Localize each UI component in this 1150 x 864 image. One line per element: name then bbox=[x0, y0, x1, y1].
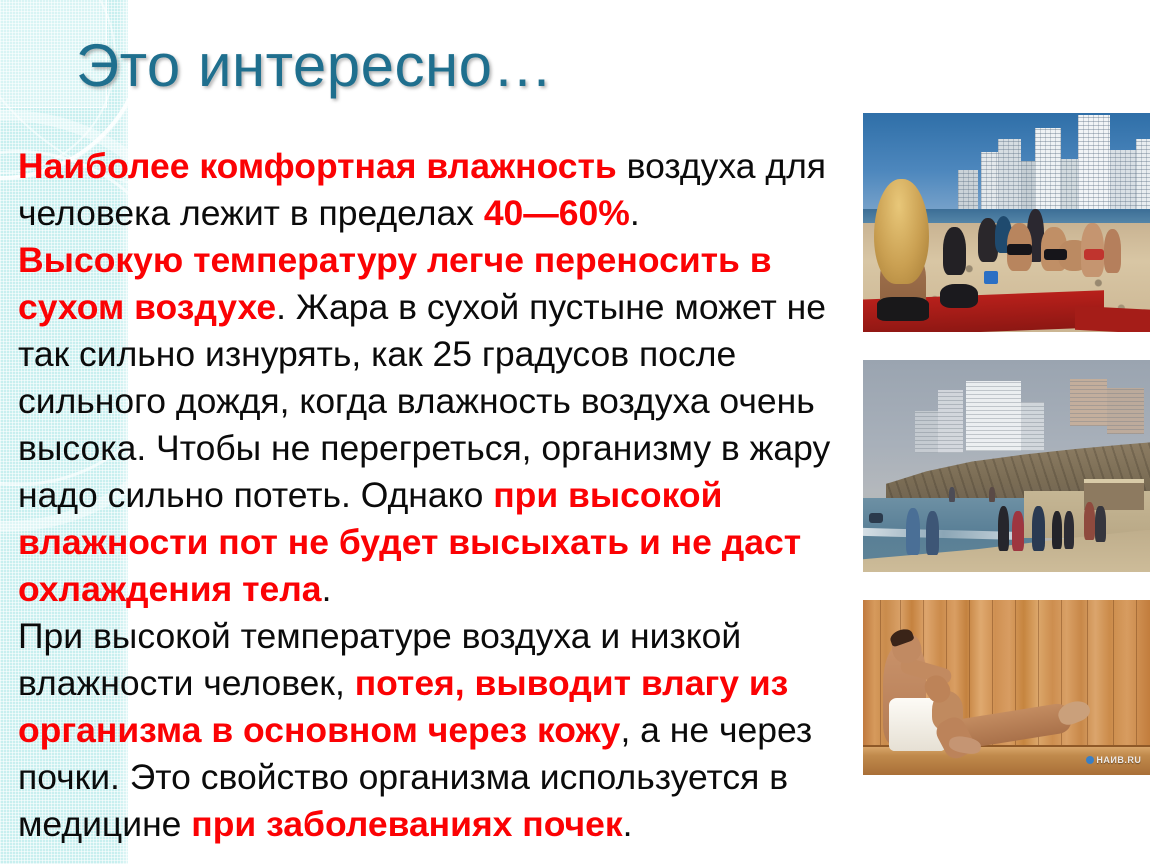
building-shape bbox=[915, 411, 938, 453]
building-shape bbox=[938, 390, 964, 454]
person-shape bbox=[926, 511, 939, 556]
person-shape bbox=[949, 487, 955, 502]
person-shape bbox=[906, 508, 920, 555]
building-shape bbox=[981, 152, 998, 218]
person-shape bbox=[1052, 511, 1062, 549]
bag-shape bbox=[940, 284, 977, 308]
person-shape bbox=[998, 506, 1009, 551]
blonde-hair-shape bbox=[874, 179, 929, 284]
photo-sauna-content: НАИВ.RU bbox=[863, 600, 1150, 775]
photo-sauna: НАИВ.RU bbox=[863, 600, 1150, 775]
building-shape bbox=[998, 139, 1021, 218]
red-towel-shape bbox=[1075, 306, 1150, 332]
photo-beach-haze-content bbox=[863, 360, 1150, 572]
photo-beach-crowd-content bbox=[863, 113, 1150, 332]
slide-body-text: Наиболее комфортная влажность воздуха дл… bbox=[18, 143, 864, 848]
person-shape bbox=[1104, 229, 1121, 273]
swimsuit-shape bbox=[1084, 249, 1104, 260]
text-run: . bbox=[623, 804, 633, 844]
building-shape bbox=[1136, 139, 1150, 218]
person-shape bbox=[989, 487, 995, 502]
text-run: . bbox=[630, 193, 640, 233]
text-run: . bbox=[322, 569, 332, 609]
text-run: 40—60% bbox=[484, 193, 630, 233]
person-shape bbox=[1084, 502, 1095, 540]
person-shape bbox=[1064, 511, 1074, 549]
building-shape bbox=[966, 381, 1021, 451]
building-shape bbox=[1070, 379, 1107, 426]
text-run: Наиболее комфортная влажность bbox=[18, 146, 617, 186]
person-shape bbox=[1012, 511, 1023, 551]
building-shape bbox=[1110, 150, 1136, 218]
swimsuit-shape bbox=[1007, 244, 1033, 255]
photo-beach-crowd bbox=[863, 113, 1150, 332]
text-run: при заболеваниях почек bbox=[191, 804, 622, 844]
watermark: НАИВ.RU bbox=[1086, 755, 1141, 765]
photo-beach-haze bbox=[863, 360, 1150, 572]
paragraph-2: Высокую температуру легче переносить в с… bbox=[18, 237, 864, 613]
boat-shape bbox=[869, 513, 883, 524]
slide-title: Это интересно… bbox=[76, 34, 553, 97]
person-shape bbox=[1032, 506, 1045, 551]
building-shape bbox=[1021, 402, 1044, 451]
building-shape bbox=[1107, 388, 1144, 435]
paragraph-3: При высокой температуре воздуха и низкой… bbox=[18, 613, 864, 848]
watermark-dot-icon bbox=[1086, 756, 1094, 764]
paragraph-1: Наиболее комфортная влажность воздуха дл… bbox=[18, 143, 864, 237]
swimsuit-shape bbox=[1044, 249, 1067, 260]
blue-object-shape bbox=[984, 271, 998, 284]
person-shape bbox=[943, 227, 966, 275]
person-shape bbox=[1095, 506, 1105, 542]
bikini-bottom-shape bbox=[877, 297, 929, 321]
building-shape bbox=[1035, 128, 1061, 218]
building-shape bbox=[1078, 115, 1110, 218]
watermark-text: НАИВ.RU bbox=[1096, 755, 1141, 765]
